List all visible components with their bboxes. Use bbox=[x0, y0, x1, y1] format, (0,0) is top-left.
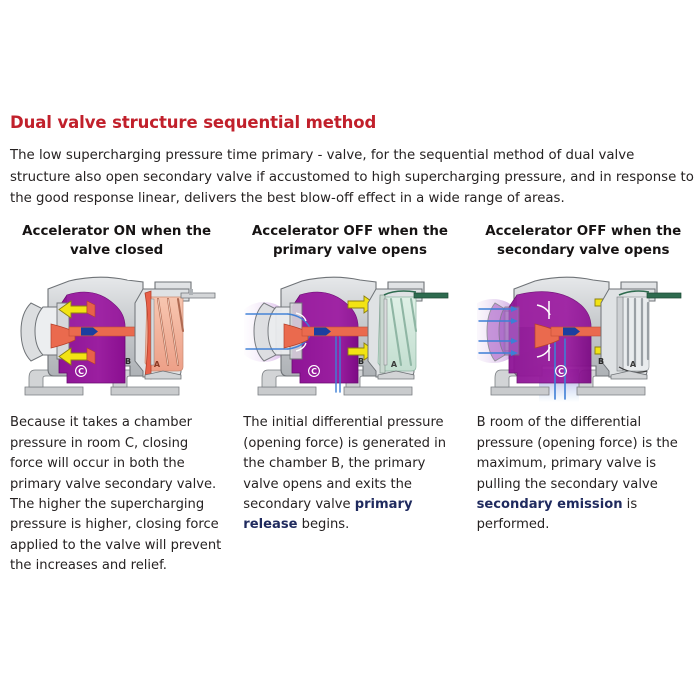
diagram-columns: Accelerator ON when the valve closed bbox=[0, 222, 700, 577]
chamber-label-a: A bbox=[154, 360, 161, 369]
chamber-label-b: B bbox=[598, 357, 604, 366]
column-body: Because it takes a chamber pressure in r… bbox=[8, 413, 225, 577]
chamber-label-b: B bbox=[125, 357, 131, 366]
chamber-label-a: A bbox=[630, 360, 637, 369]
column-heading: Accelerator ON when the valve closed bbox=[8, 222, 225, 260]
blow-off-valve-cutaway-primary-open: C B A bbox=[244, 269, 456, 402]
column-valve-closed: Accelerator ON when the valve closed bbox=[0, 222, 233, 577]
body-text-segment: The initial differential pressure (openi… bbox=[243, 415, 446, 512]
column-body: The initial differential pressure (openi… bbox=[241, 413, 458, 536]
page-root: Dual valve structure sequential method T… bbox=[0, 0, 700, 700]
body-text-segment: B room of the differential pressure (ope… bbox=[477, 415, 678, 491]
column-body: B room of the differential pressure (ope… bbox=[475, 413, 692, 536]
chamber-label-b: B bbox=[358, 357, 364, 366]
blow-off-valve-cutaway-secondary-open: C B A bbox=[477, 269, 689, 402]
column-primary-valve-open: Accelerator OFF when the primary valve o… bbox=[233, 222, 466, 536]
column-secondary-valve-open: Accelerator OFF when the secondary valve… bbox=[467, 222, 700, 536]
body-text-segment: Because it takes a chamber pressure in r… bbox=[10, 415, 221, 573]
secondary-valve-open-diagram: C B A bbox=[475, 268, 692, 403]
body-highlight-secondary-emission: secondary emission bbox=[477, 497, 623, 512]
column-heading: Accelerator OFF when the primary valve o… bbox=[241, 222, 458, 260]
chamber-label-c: C bbox=[78, 367, 84, 376]
chamber-label-a: A bbox=[391, 360, 398, 369]
chamber-label-c: C bbox=[311, 367, 317, 376]
page-title: Dual valve structure sequential method bbox=[10, 113, 376, 132]
blow-off-valve-cutaway-closed: C B A bbox=[11, 269, 223, 402]
primary-valve-open-diagram: C B A bbox=[241, 268, 458, 403]
chamber-label-c: C bbox=[558, 367, 564, 376]
intro-paragraph: The low supercharging pressure time prim… bbox=[10, 145, 694, 210]
body-text-segment: begins. bbox=[298, 517, 350, 532]
column-heading: Accelerator OFF when the secondary valve… bbox=[475, 222, 692, 260]
valve-closed-diagram: C B A bbox=[8, 268, 225, 403]
